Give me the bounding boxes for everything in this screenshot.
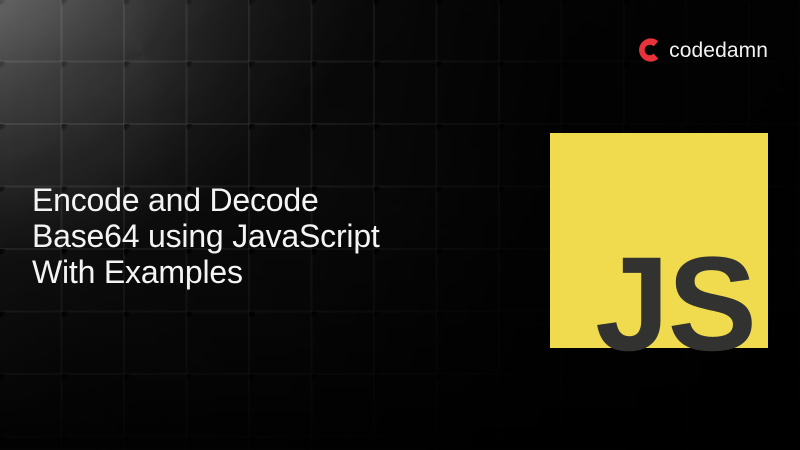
page-title-line-1: Encode and Decode <box>32 182 502 218</box>
javascript-logo-badge: JS <box>550 133 768 348</box>
javascript-logo-label: JS <box>595 238 755 372</box>
page-title-line-2: Base64 using JavaScript <box>32 218 502 254</box>
blog-cover-canvas: codedamn Encode and Decode Base64 using … <box>0 0 800 450</box>
page-title: Encode and Decode Base64 using JavaScrip… <box>32 182 502 290</box>
page-title-line-3: With Examples <box>32 254 502 290</box>
codedamn-c-logo-icon <box>635 36 659 64</box>
brand-lockup: codedamn <box>635 36 768 64</box>
brand-name: codedamn <box>669 40 768 61</box>
